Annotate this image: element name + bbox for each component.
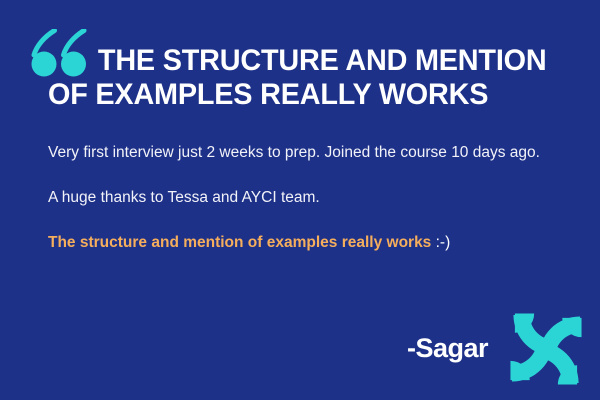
- body-paragraph-highlight: The structure and mention of examples re…: [48, 230, 558, 255]
- body-copy: Very first interview just 2 weeks to pre…: [48, 140, 558, 255]
- emoticon-text: :-): [436, 234, 451, 251]
- headline: THE STRUCTURE AND MENTION OF EXAMPLES RE…: [48, 44, 568, 112]
- headline-line-1: THE STRUCTURE AND MENTION: [48, 44, 547, 78]
- body-paragraph-1: Very first interview just 2 weeks to pre…: [48, 140, 558, 165]
- headline-line-2: OF EXAMPLES REALLY WORKS: [48, 78, 547, 112]
- highlight-phrase: The structure and mention of examples re…: [48, 234, 431, 251]
- testimonial-card: THE STRUCTURE AND MENTION OF EXAMPLES RE…: [0, 0, 600, 400]
- body-paragraph-2: A huge thanks to Tessa and AYCI team.: [48, 185, 558, 210]
- attribution-signature: -Sagar: [407, 335, 488, 362]
- ayci-pinwheel-logo: [509, 312, 583, 386]
